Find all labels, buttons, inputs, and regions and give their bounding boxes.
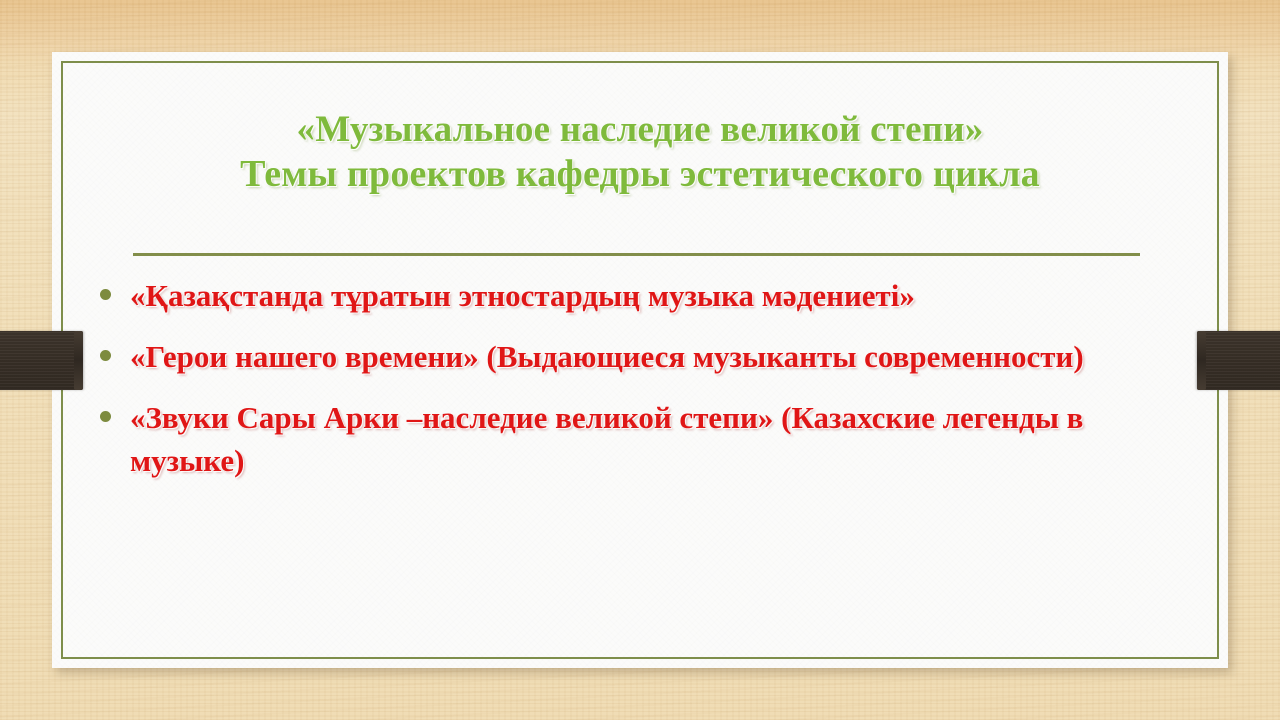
list-item: «Қазақстанда тұратын этностардың музыка … bbox=[100, 274, 1190, 317]
bullet-dot-icon bbox=[100, 350, 111, 361]
slide-title: «Музыкальное наследие великой степи» Тем… bbox=[92, 107, 1188, 197]
ribbon-endcap-left bbox=[74, 331, 83, 390]
project-topics-list: «Қазақстанда тұратын этностардың музыка … bbox=[100, 274, 1190, 482]
title-divider-line bbox=[133, 253, 1140, 256]
bullet-dot-icon bbox=[100, 289, 111, 300]
slide-title-line-1: «Музыкальное наследие великой степи» bbox=[92, 107, 1188, 152]
list-item-label: «Герои нашего времени» (Выдающиеся музык… bbox=[130, 335, 1190, 378]
list-item: «Звуки Сары Арки –наследие великой степи… bbox=[100, 396, 1190, 482]
list-item-label: «Қазақстанда тұратын этностардың музыка … bbox=[130, 274, 1190, 317]
list-item: «Герои нашего времени» (Выдающиеся музык… bbox=[100, 335, 1190, 378]
ribbon-endcap-right bbox=[1197, 331, 1206, 390]
decorative-ribbon-left bbox=[0, 331, 83, 390]
slide-content-card: «Музыкальное наследие великой степи» Тем… bbox=[52, 52, 1228, 668]
slide-title-line-2: Темы проектов кафедры эстетического цикл… bbox=[92, 152, 1188, 197]
bullet-dot-icon bbox=[100, 411, 111, 422]
decorative-ribbon-right bbox=[1197, 331, 1280, 390]
list-item-label: «Звуки Сары Арки –наследие великой степи… bbox=[130, 396, 1190, 482]
slide-canvas: «Музыкальное наследие великой степи» Тем… bbox=[0, 0, 1280, 720]
slide-content: «Музыкальное наследие великой степи» Тем… bbox=[52, 52, 1228, 668]
